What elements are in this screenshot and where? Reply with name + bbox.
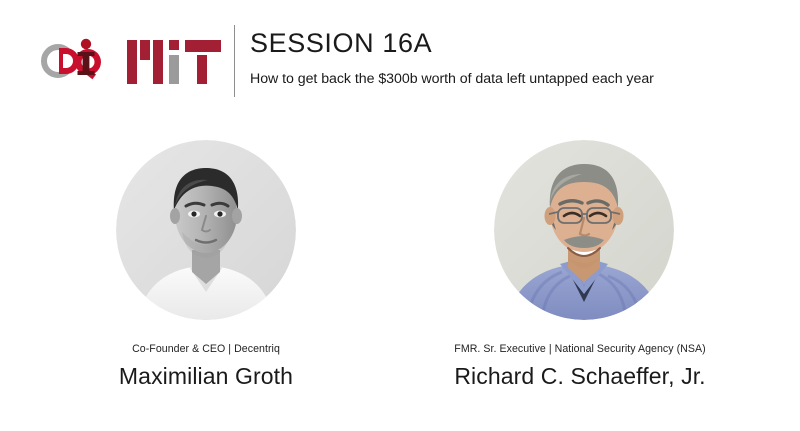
speaker-card: FMR. Sr. Executive | National Security A… [400, 140, 760, 391]
speaker-role: Co-Founder & CEO | Decentriq [26, 342, 386, 356]
speaker-name: Richard C. Schaeffer, Jr. [400, 362, 760, 391]
speaker-role: FMR. Sr. Executive | National Security A… [400, 342, 760, 356]
session-subtitle: How to get back the $300b worth of data … [250, 70, 795, 89]
session-title: SESSION 16A [250, 26, 795, 60]
session-slide: SESSION 16A How to get back the $300b wo… [0, 0, 800, 431]
cdoiq-logo [36, 36, 112, 86]
speaker-card: Co-Founder & CEO | Decentriq Maximilian … [26, 140, 386, 391]
slide-header: SESSION 16A How to get back the $300b wo… [0, 0, 800, 120]
avatar [494, 140, 674, 320]
header-text-block: SESSION 16A How to get back the $300b wo… [250, 26, 795, 89]
avatar [116, 140, 296, 320]
speakers-section: Co-Founder & CEO | Decentriq Maximilian … [0, 140, 800, 410]
mit-logo [127, 36, 221, 88]
speaker-name: Maximilian Groth [26, 362, 386, 391]
header-divider [234, 25, 235, 97]
